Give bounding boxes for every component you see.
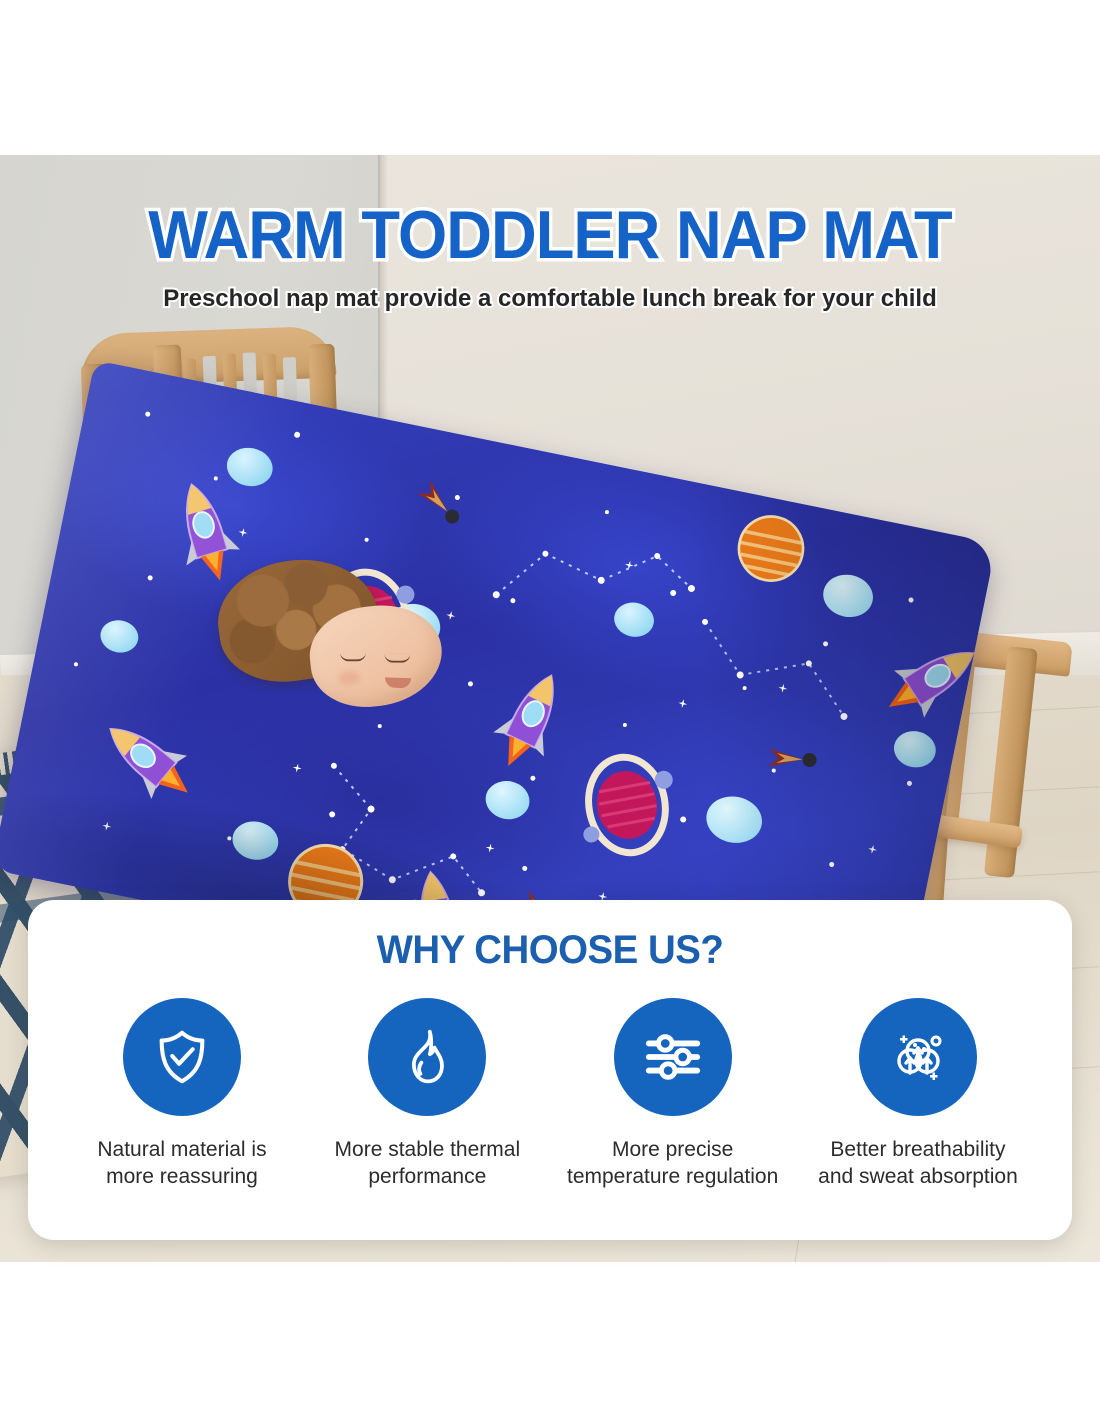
page-subtitle: Preschool nap mat provide a comfortable … bbox=[0, 285, 1100, 313]
why-choose-us-card: WHY CHOOSE US? Natural material is more … bbox=[28, 900, 1072, 1240]
icon-circle bbox=[123, 998, 241, 1116]
feature-caption-line2: more reassuring bbox=[106, 1165, 258, 1188]
ringed-planet bbox=[551, 733, 702, 877]
feature-item: More stable thermal performance bbox=[307, 998, 547, 1191]
icon-circle bbox=[614, 998, 732, 1116]
feature-item: Better breathability and sweat absorptio… bbox=[798, 998, 1038, 1191]
striped-planet bbox=[724, 501, 818, 595]
breathability-icon bbox=[886, 1025, 950, 1089]
feature-caption-line2: performance bbox=[368, 1165, 486, 1188]
feature-caption: Natural material is more reassuring bbox=[97, 1136, 266, 1191]
feature-caption: More precise temperature regulation bbox=[567, 1136, 778, 1191]
sliders-icon bbox=[642, 1026, 704, 1088]
constellation-line bbox=[674, 605, 874, 758]
icon-circle bbox=[859, 998, 977, 1116]
card-title: WHY CHOOSE US? bbox=[49, 928, 1051, 973]
constellation-line bbox=[480, 505, 710, 664]
feature-caption: More stable thermal performance bbox=[335, 1136, 521, 1191]
shield-check-icon bbox=[151, 1026, 213, 1088]
comet-icon bbox=[414, 476, 467, 530]
feature-caption-line1: More precise bbox=[612, 1138, 733, 1161]
feature-caption-line1: Natural material is bbox=[97, 1138, 266, 1161]
feature-caption-line1: Better breathability bbox=[830, 1138, 1005, 1161]
feature-item: More precise temperature regulation bbox=[553, 998, 793, 1191]
rocket-icon bbox=[91, 706, 207, 815]
feature-caption-line1: More stable thermal bbox=[335, 1138, 521, 1161]
icon-circle bbox=[368, 998, 486, 1116]
feature-item: Natural material is more reassuring bbox=[62, 998, 302, 1191]
comet-icon bbox=[764, 745, 819, 770]
features-row: Natural material is more reassuring More… bbox=[28, 998, 1072, 1191]
page-title: WARM TODDLER NAP MAT bbox=[39, 196, 1062, 274]
feature-caption-line2: temperature regulation bbox=[567, 1165, 778, 1188]
rocket-icon bbox=[482, 662, 577, 780]
feature-caption: Better breathability and sweat absorptio… bbox=[818, 1136, 1018, 1191]
feature-caption-line2: and sweat absorption bbox=[818, 1165, 1018, 1188]
sleeping-child bbox=[218, 560, 448, 740]
product-infographic-page: WARM TODDLER NAP MAT Preschool nap mat p… bbox=[0, 0, 1100, 1422]
flame-icon bbox=[397, 1027, 457, 1087]
